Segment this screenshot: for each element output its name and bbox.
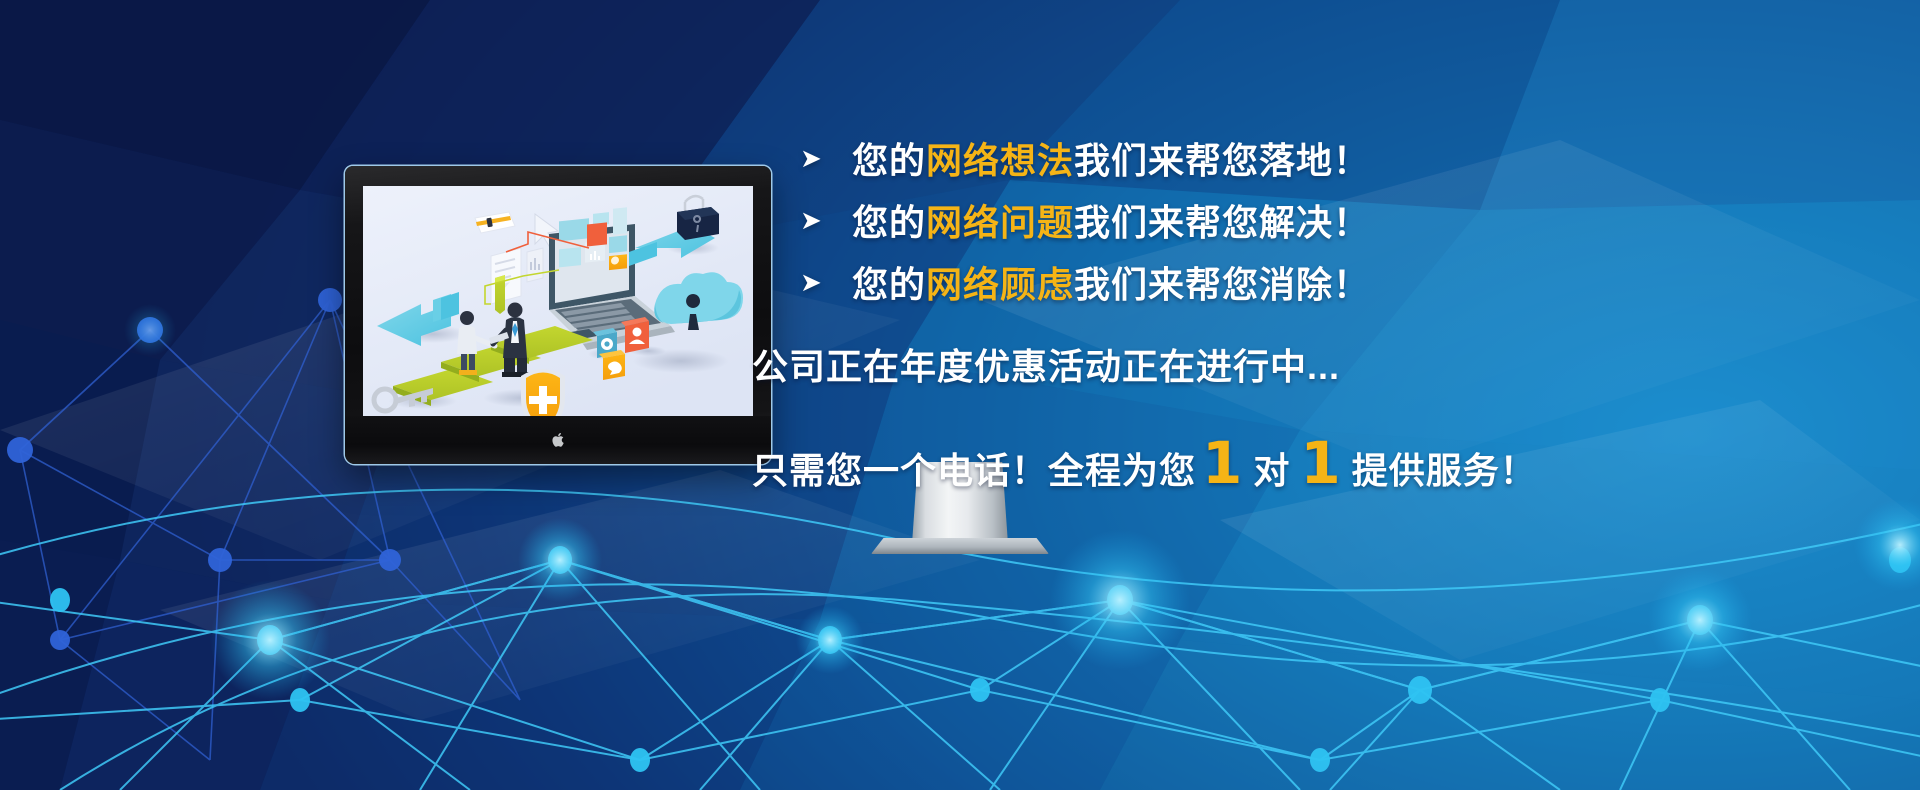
bullet-lead-3: 您的 (852, 264, 926, 305)
monitor-screen (363, 186, 753, 416)
triangle-right-icon: ➤ (800, 145, 852, 171)
banner-copy: ➤ 您的网络想法我们来帮您落地！ ➤ 您的网络问题我们来帮您解决！ ➤ 您的网络… (800, 128, 1860, 494)
user-app-icon (621, 317, 649, 353)
bullet-highlight-3: 网络顾虑 (926, 264, 1074, 305)
promo-number-1: 1 (1196, 434, 1249, 492)
bullet-item-3: ➤ 您的网络顾虑我们来帮您消除！ (800, 252, 1860, 312)
bullet-item-2: ➤ 您的网络问题我们来帮您解决！ (800, 190, 1860, 250)
bullet-lead-2: 您的 (852, 202, 926, 243)
bullet-item-1: ➤ 您的网络想法我们来帮您落地！ (800, 128, 1860, 188)
promo-line-2-middle: 对 (1249, 442, 1294, 494)
bullet-tail-3: 我们来帮您消除！ (1074, 264, 1370, 305)
isometric-network-security-illustration (363, 186, 753, 416)
triangle-right-icon: ➤ (800, 269, 852, 295)
triangle-right-icon: ➤ (800, 207, 852, 233)
promo-line-2-part1: 只需您一个电话！全程为您 (752, 442, 1196, 494)
bullet-lead-1: 您的 (852, 140, 926, 181)
bullet-text-3: 您的网络顾虑我们来帮您消除！ (852, 256, 1370, 308)
apple-logo-icon (552, 433, 565, 448)
bullet-highlight-2: 网络问题 (926, 202, 1074, 243)
shield-plus-icon (521, 369, 565, 416)
bullet-tail-1: 我们来帮您落地！ (1074, 140, 1370, 181)
promo-line-2: 只需您一个电话！全程为您 1 对 1 提供服务！ (752, 434, 1860, 494)
bullet-text-2: 您的网络问题我们来帮您解决！ (852, 194, 1370, 246)
promo-line-1: 公司正在年度优惠活动正在进行中... (752, 338, 1860, 390)
imac-monitor (345, 166, 771, 464)
monitor-chin (345, 416, 771, 464)
bullet-tail-2: 我们来帮您解决！ (1074, 202, 1370, 243)
bullet-highlight-1: 网络想法 (926, 140, 1074, 181)
promo-banner: ➤ 您的网络想法我们来帮您落地！ ➤ 您的网络问题我们来帮您解决！ ➤ 您的网络… (0, 0, 1920, 790)
promo-number-2: 1 (1294, 434, 1347, 492)
monitor-stand-base (871, 538, 1049, 554)
bullet-text-1: 您的网络想法我们来帮您落地！ (852, 132, 1370, 184)
promo-line-2-part2: 提供服务！ (1348, 442, 1541, 494)
chart-card-icon (527, 248, 543, 282)
